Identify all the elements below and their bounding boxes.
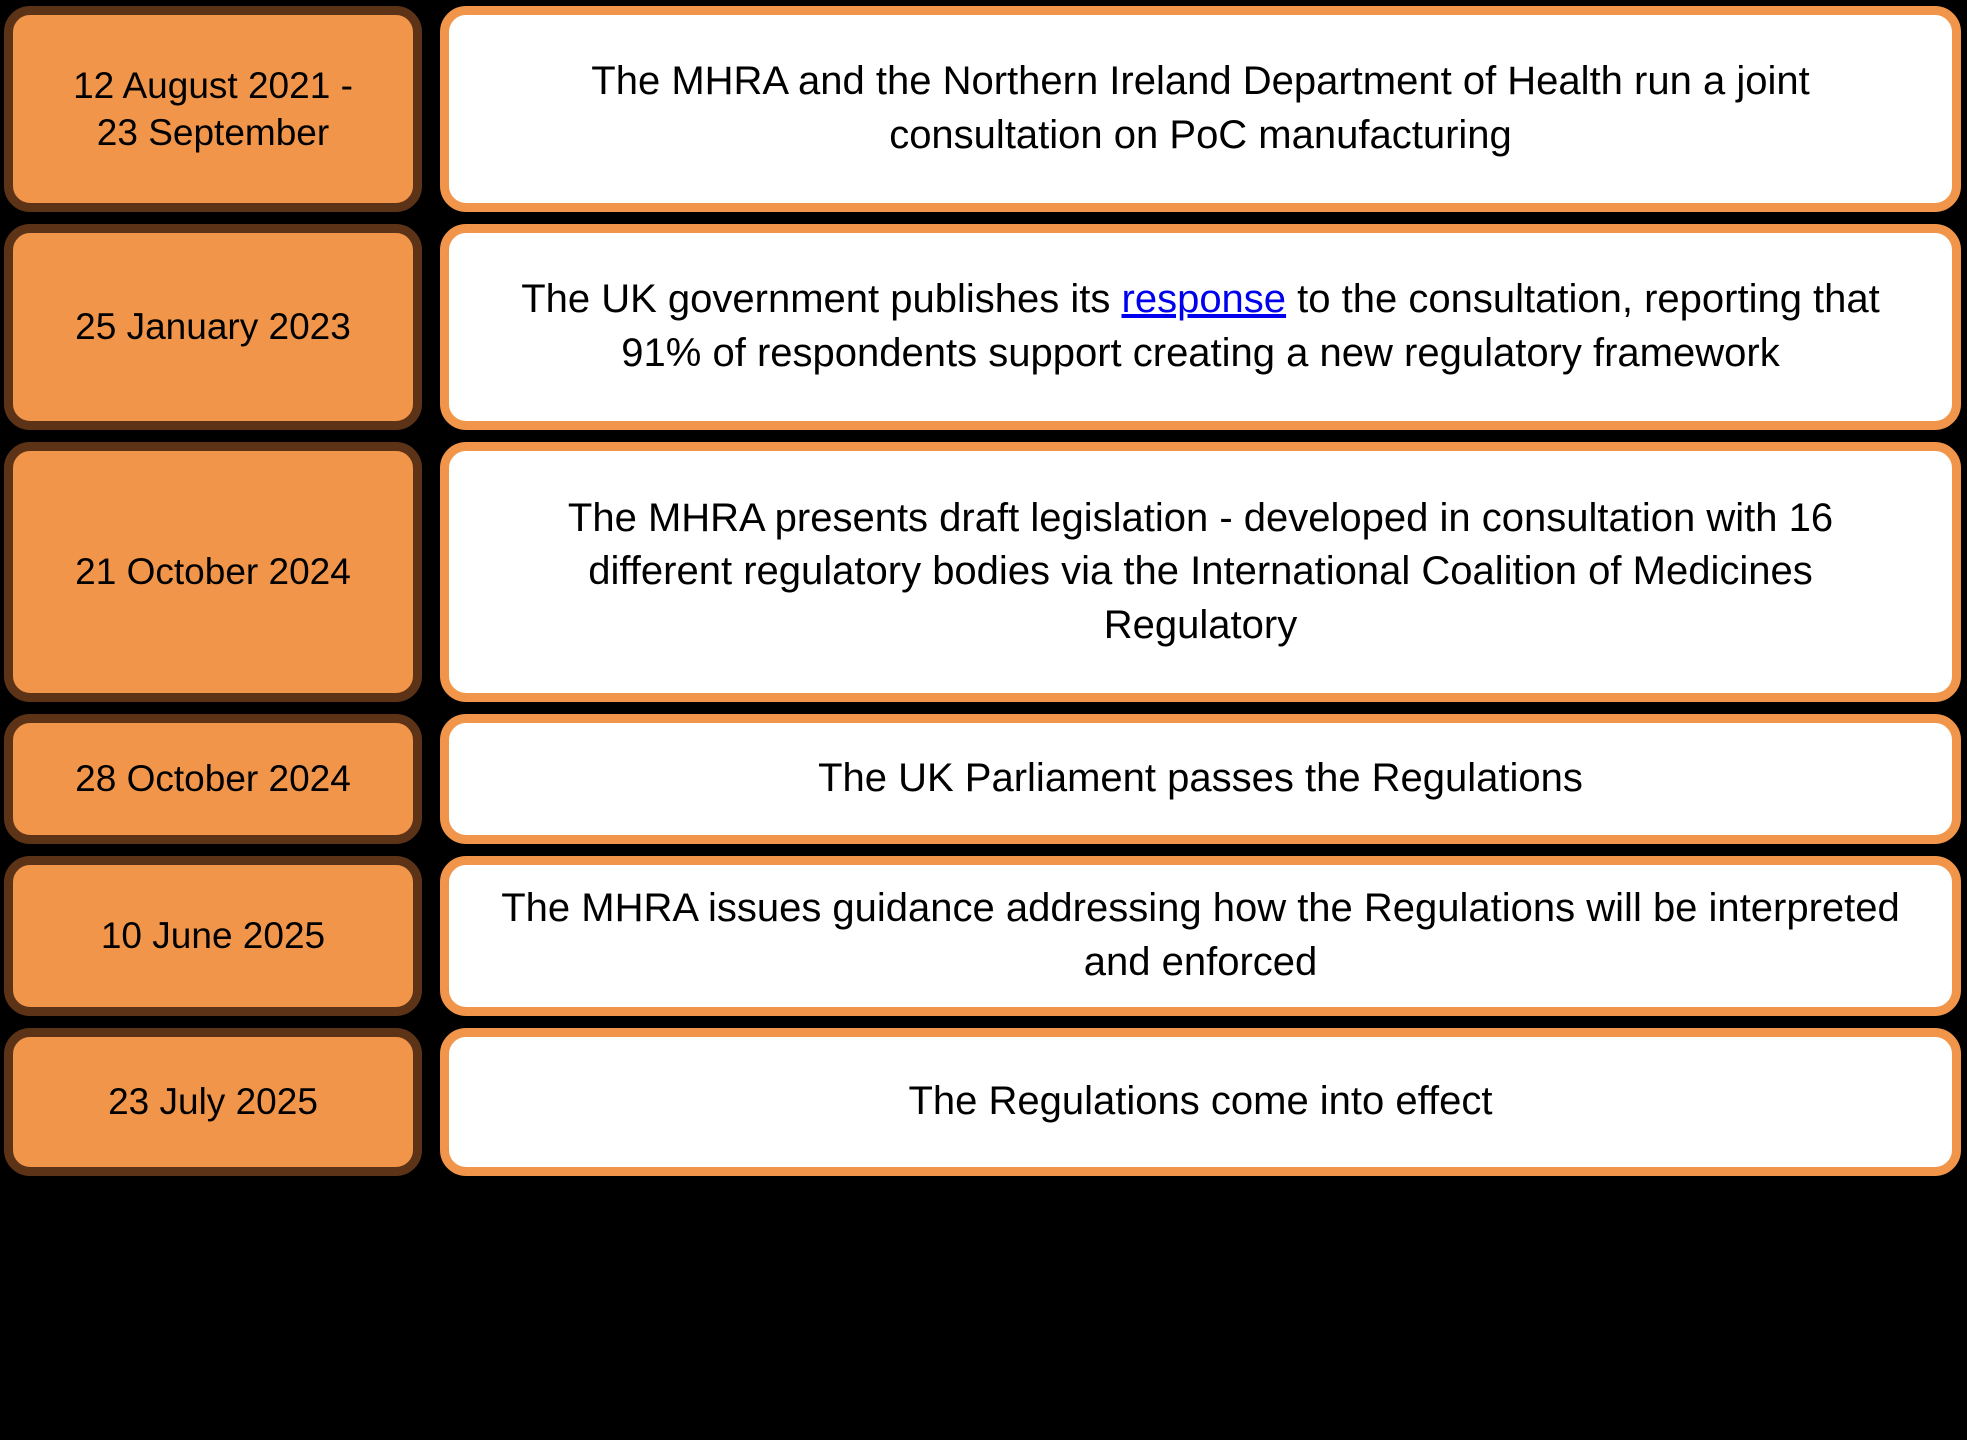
timeline-row: 23 July 2025 The Regulations come into e…: [0, 1022, 1967, 1182]
timeline-content-cell: The Regulations come into effect: [430, 1028, 1967, 1176]
timeline-date-label: 21 October 2024: [75, 548, 351, 595]
timeline-diagram: 12 August 2021 - 23 September The MHRA a…: [0, 0, 1967, 1440]
timeline-row: 10 June 2025 The MHRA issues guidance ad…: [0, 850, 1967, 1022]
timeline-date-line-2: 23 September: [97, 112, 329, 153]
timeline-content-cell: The MHRA and the Northern Ireland Depart…: [430, 6, 1967, 212]
timeline-content-cell: The MHRA issues guidance addressing how …: [430, 856, 1967, 1016]
timeline-content-cell: The UK Parliament passes the Regulations: [430, 714, 1967, 844]
timeline-date-label: 10 June 2025: [101, 912, 325, 959]
consultation-response-link[interactable]: response: [1122, 277, 1287, 321]
timeline-content-text: The MHRA presents draft legislation - de…: [495, 492, 1906, 653]
timeline-date-cell: 10 June 2025: [0, 856, 430, 1016]
timeline-row: 12 August 2021 - 23 September The MHRA a…: [0, 0, 1967, 218]
timeline-date-box: 28 October 2024: [4, 714, 422, 844]
timeline-text-segment: The MHRA presents draft legislation - de…: [568, 496, 1833, 647]
timeline-date-label: 25 January 2023: [75, 303, 351, 350]
timeline-date-box: 10 June 2025: [4, 856, 422, 1016]
timeline-content-text: The Regulations come into effect: [495, 1075, 1906, 1129]
timeline-date-box: 23 July 2025: [4, 1028, 422, 1176]
timeline-row: 25 January 2023 The UK government publis…: [0, 218, 1967, 436]
timeline-content-text: The UK government publishes its response…: [495, 273, 1906, 380]
timeline-date-box: 21 October 2024: [4, 442, 422, 702]
timeline-row: 21 October 2024 The MHRA presents draft …: [0, 436, 1967, 708]
timeline-text-segment: The Regulations come into effect: [908, 1079, 1492, 1123]
timeline-date-label: 12 August 2021 - 23 September: [73, 62, 353, 157]
timeline-content-box: The Regulations come into effect: [440, 1028, 1961, 1176]
timeline-text-segment: The MHRA and the Northern Ireland Depart…: [591, 59, 1809, 157]
timeline-content-text: The MHRA and the Northern Ireland Depart…: [495, 55, 1906, 162]
timeline-date-label: 28 October 2024: [75, 755, 351, 802]
timeline-date-line-1: 12 August 2021 -: [73, 65, 353, 106]
timeline-date-label: 23 July 2025: [108, 1078, 318, 1125]
timeline-date-cell: 12 August 2021 - 23 September: [0, 6, 430, 212]
timeline-date-cell: 23 July 2025: [0, 1028, 430, 1176]
timeline-text-segment: The MHRA issues guidance addressing how …: [501, 886, 1900, 984]
timeline-content-text: The MHRA issues guidance addressing how …: [495, 882, 1906, 989]
timeline-text-segment: The UK Parliament passes the Regulations: [818, 756, 1583, 800]
timeline-content-cell: The UK government publishes its response…: [430, 224, 1967, 430]
timeline-content-text: The UK Parliament passes the Regulations: [495, 752, 1906, 806]
timeline-text-segment: The UK government publishes its: [521, 277, 1121, 321]
timeline-date-cell: 21 October 2024: [0, 442, 430, 702]
timeline-date-cell: 25 January 2023: [0, 224, 430, 430]
timeline-date-box: 12 August 2021 - 23 September: [4, 6, 422, 212]
timeline-content-box: The UK government publishes its response…: [440, 224, 1961, 430]
timeline-content-cell: The MHRA presents draft legislation - de…: [430, 442, 1967, 702]
timeline-row: 28 October 2024 The UK Parliament passes…: [0, 708, 1967, 850]
timeline-content-box: The MHRA presents draft legislation - de…: [440, 442, 1961, 702]
timeline-date-cell: 28 October 2024: [0, 714, 430, 844]
timeline-content-box: The UK Parliament passes the Regulations: [440, 714, 1961, 844]
timeline-content-box: The MHRA issues guidance addressing how …: [440, 856, 1961, 1016]
timeline-date-box: 25 January 2023: [4, 224, 422, 430]
timeline-content-box: The MHRA and the Northern Ireland Depart…: [440, 6, 1961, 212]
